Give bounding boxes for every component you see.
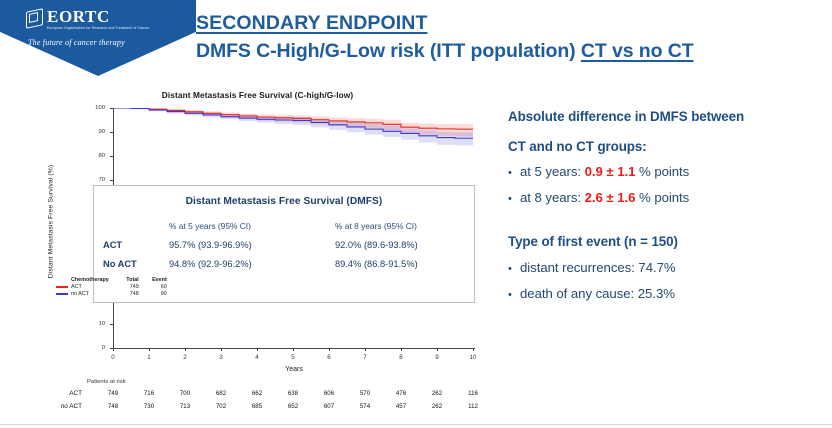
stats-label-act: ACT: [94, 235, 169, 254]
bullet-dot-icon: •: [508, 168, 512, 179]
patients-at-risk-value: 606: [324, 390, 334, 397]
stats-title: Distant Metastasis Free Survival (DMFS): [94, 196, 474, 207]
eortc-cube-icon: [26, 10, 43, 27]
patients-at-risk-row-label: no ACT: [30, 403, 82, 410]
title-line-2-underlined: CT vs no CT: [581, 40, 694, 62]
logo-name: EORTC: [47, 8, 149, 25]
x-tick-label: 5: [291, 354, 294, 361]
x-tick-label: 3: [219, 354, 222, 361]
x-tick-mark: [185, 348, 186, 351]
footer-divider: [0, 424, 832, 425]
patients-at-risk-value: 638: [288, 390, 298, 397]
stats-no-act-5y: 94.8% (92.9-96.2%): [169, 254, 335, 273]
bullet-5-years: • at 5 years: 0.9 ± 1.1 % points: [508, 164, 828, 179]
bullet-5y-pre: at 5 years:: [520, 164, 585, 179]
bullet-dot-icon: •: [508, 264, 512, 275]
legend-header-total: Total: [109, 276, 147, 284]
stats-act-5y: 95.7% (93.9-96.9%): [169, 235, 335, 254]
legend-name-no-act: no ACT: [69, 291, 109, 298]
y-tick-label: 100: [95, 105, 109, 111]
bullet-8y-post: % points: [635, 190, 689, 205]
bullet-distant-recurrences-text: distant recurrences: 74.7%: [520, 260, 676, 275]
x-tick-mark: [221, 348, 222, 351]
patients-at-risk-value: 713: [180, 403, 190, 410]
x-tick-label: 9: [435, 354, 438, 361]
stats-act-8y: 92.0% (89.6-93.8%): [335, 235, 474, 254]
y-tick-mark: [110, 324, 113, 325]
patients-at-risk-value: 682: [216, 390, 226, 397]
chart-x-axis-label: Years: [113, 366, 475, 373]
legend-event-act: 60: [147, 284, 167, 291]
patients-at-risk-value: 748: [108, 403, 118, 410]
patients-at-risk-row: no ACT748730713702685652607574457262112: [30, 403, 485, 414]
patients-at-risk-value: 749: [108, 390, 118, 397]
patients-at-risk-value: 116: [468, 390, 478, 397]
y-tick-label: 0: [102, 345, 109, 351]
title-line-2: DMFS C-High/G-Low risk (ITT population) …: [196, 40, 826, 63]
patients-at-risk-row: ACT749716700682662638606570476262116: [30, 390, 485, 401]
x-tick-mark: [401, 348, 402, 351]
x-tick-mark: [365, 348, 366, 351]
stats-col-8y: % at 8 years (95% CI): [335, 216, 474, 235]
chart-y-axis-label: Distant Metastasis Free Survival (%): [48, 132, 55, 312]
legend-swatch-no-act: [56, 293, 68, 294]
patients-at-risk-value: 457: [396, 403, 406, 410]
patients-at-risk-label: Patients at risk: [87, 379, 126, 385]
abs-diff-bullets: • at 5 years: 0.9 ± 1.1 % points • at 8 …: [508, 164, 828, 205]
bullet-8y-value: 2.6 ± 1.6: [585, 190, 636, 205]
bullet-8y-pre: at 8 years:: [520, 190, 585, 205]
y-tick-mark: [110, 156, 113, 157]
bullet-death-any-cause-text: death of any cause: 25.3%: [520, 286, 675, 301]
legend-swatch-act: [56, 286, 68, 287]
patients-at-risk-value: 112: [468, 403, 478, 410]
patients-at-risk-value: 262: [432, 403, 442, 410]
abs-diff-heading-1: Absolute difference in DMFS between: [508, 108, 828, 125]
legend-header-row: Chemotherapy Total Event: [56, 276, 167, 284]
patients-at-risk-value: 702: [216, 403, 226, 410]
first-event-bullets: • distant recurrences: 74.7% • death of …: [508, 260, 828, 301]
stats-col-5y: % at 5 years (95% CI): [169, 216, 335, 235]
stats-row-act: ACT 95.7% (93.9-96.9%) 92.0% (89.6-93.8%…: [94, 235, 474, 254]
bullet-8-years: • at 8 years: 2.6 ± 1.6 % points: [508, 190, 828, 205]
x-tick-label: 6: [327, 354, 330, 361]
y-tick-label: 10: [98, 321, 109, 327]
logo-subtitle: European Organisation for Research and T…: [47, 26, 149, 31]
bullet-death-any-cause: • death of any cause: 25.3%: [508, 286, 828, 301]
x-tick-label: 0: [111, 354, 114, 361]
logo-tagline: The future of cancer therapy: [28, 38, 176, 47]
abs-diff-heading-2: CT and no CT groups:: [508, 138, 828, 155]
patients-at-risk-value: 652: [288, 403, 298, 410]
x-tick-mark: [257, 348, 258, 351]
bullet-dot-icon: •: [508, 194, 512, 205]
patients-at-risk-value: 574: [360, 403, 370, 410]
patients-at-risk-row-label: ACT: [30, 390, 82, 397]
stats-label-no-act: No ACT: [94, 254, 169, 273]
x-tick-mark: [473, 348, 474, 351]
right-panel: Absolute difference in DMFS between CT a…: [508, 108, 828, 312]
km-chart: Distant Metastasis Free Survival (C-high…: [30, 90, 485, 428]
x-tick-label: 10: [470, 354, 477, 361]
patients-at-risk-value: 570: [360, 390, 370, 397]
x-axis-line: [113, 348, 475, 349]
patients-at-risk-value: 662: [252, 390, 262, 397]
patients-at-risk-value: 716: [144, 390, 154, 397]
legend-header-event: Event: [147, 276, 167, 284]
bullet-dot-icon: •: [508, 290, 512, 301]
legend-header-group: Chemotherapy: [69, 276, 109, 284]
y-tick-mark: [110, 108, 113, 109]
x-tick-label: 7: [363, 354, 366, 361]
x-tick-label: 8: [399, 354, 402, 361]
patients-at-risk-value: 730: [144, 403, 154, 410]
slide: EORTC European Organisation for Research…: [0, 0, 832, 428]
legend-total-no-act: 748: [109, 291, 147, 298]
legend-event-no-act: 90: [147, 291, 167, 298]
legend-row-act: ACT 749 60: [56, 284, 167, 291]
x-tick-mark: [113, 348, 114, 351]
stats-no-act-8y: 89.4% (86.8-91.5%): [335, 254, 474, 273]
patients-at-risk-value: 476: [396, 390, 406, 397]
legend-total-act: 749: [109, 284, 147, 291]
x-tick-mark: [329, 348, 330, 351]
bullet-distant-recurrences: • distant recurrences: 74.7%: [508, 260, 828, 275]
y-tick-label: 80: [98, 153, 109, 159]
y-tick-mark: [110, 180, 113, 181]
chart-title: Distant Metastasis Free Survival (C-high…: [30, 90, 485, 100]
patients-at-risk-value: 685: [252, 403, 262, 410]
x-tick-label: 2: [183, 354, 186, 361]
stats-table: % at 5 years (95% CI) % at 8 years (95% …: [94, 216, 474, 273]
chart-legend: Chemotherapy Total Event ACT 749 60 no A…: [56, 276, 167, 298]
bullet-5y-post: % points: [635, 164, 689, 179]
legend-row-no-act: no ACT 748 90: [56, 291, 167, 298]
patients-at-risk-value: 262: [432, 390, 442, 397]
bullet-5y-value: 0.9 ± 1.1: [585, 164, 636, 179]
title-line-1: SECONDARY ENDPOINT: [196, 12, 428, 35]
first-event-heading: Type of first event (n = 150): [508, 234, 828, 249]
x-tick-label: 1: [147, 354, 150, 361]
stats-header-row: % at 5 years (95% CI) % at 8 years (95% …: [94, 216, 474, 235]
y-tick-label: 70: [98, 177, 109, 183]
slide-title: SECONDARY ENDPOINT DMFS C-High/G-Low ris…: [196, 12, 826, 63]
patients-at-risk-value: 607: [324, 403, 334, 410]
title-line-2-main: DMFS C-High/G-Low risk (ITT population): [196, 40, 581, 62]
legend-name-act: ACT: [69, 284, 109, 291]
x-tick-mark: [149, 348, 150, 351]
y-tick-label: 90: [98, 129, 109, 135]
x-tick-mark: [293, 348, 294, 351]
y-tick-mark: [110, 132, 113, 133]
stats-row-no-act: No ACT 94.8% (92.9-96.2%) 89.4% (86.8-91…: [94, 254, 474, 273]
x-tick-label: 4: [255, 354, 258, 361]
x-tick-mark: [437, 348, 438, 351]
patients-at-risk-value: 700: [180, 390, 190, 397]
eortc-logo: EORTC European Organisation for Research…: [26, 8, 176, 47]
